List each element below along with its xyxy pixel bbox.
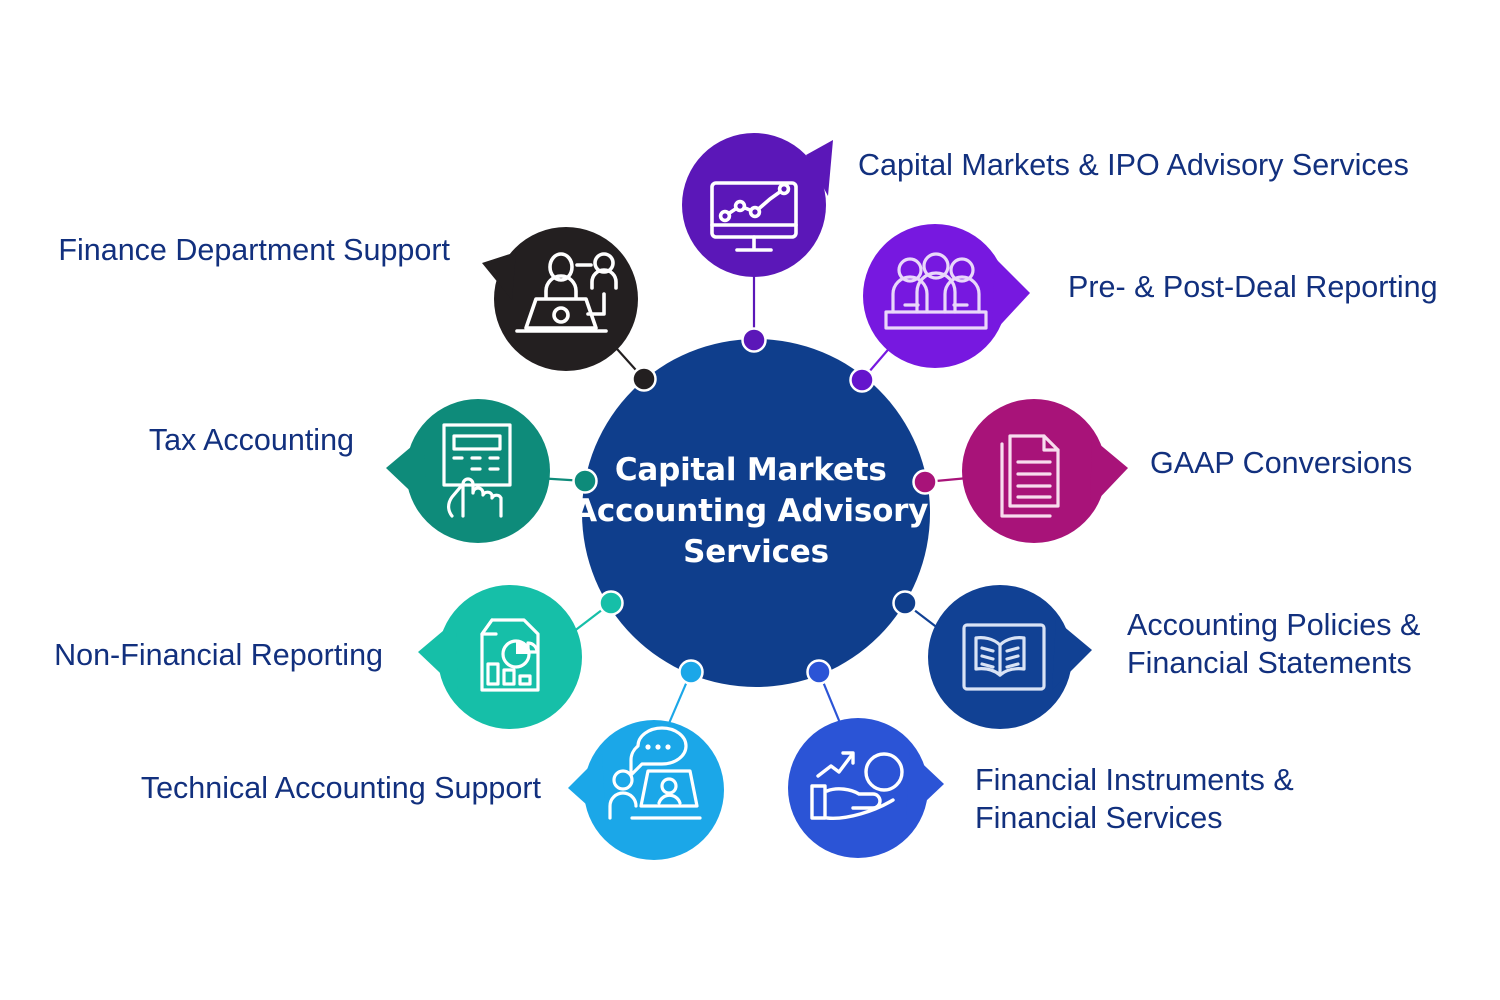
bubble-shape-pre-post-deal-reporting <box>863 224 1007 368</box>
node-capital-markets-ipo[interactable] <box>682 133 833 277</box>
connector-dot-pre-post-deal-reporting <box>851 369 874 392</box>
node-financial-instruments-financial-services[interactable] <box>788 718 944 858</box>
bubble-tail-technical-accounting-support <box>568 754 606 822</box>
bubble-tail-tax-accounting <box>386 436 426 506</box>
node-label-gaap-conversions: GAAP Conversions <box>1150 446 1412 480</box>
node-label-financial-instruments-financial-services: Financial Instruments & Financial Servic… <box>975 763 1302 835</box>
bubble-shape-non-financial-reporting <box>438 585 582 729</box>
connector-dot-non-financial-reporting <box>600 592 623 615</box>
node-label-tax-accounting: Tax Accounting <box>149 423 354 457</box>
diagram-canvas: Capital Markets & IPO Advisory Services … <box>0 0 1500 1000</box>
hub-and-spoke-diagram: Capital Markets & IPO Advisory Services … <box>0 0 1500 1000</box>
node-label-technical-accounting-support: Technical Accounting Support <box>141 771 542 805</box>
bubble-tail-gaap-conversions <box>1090 438 1128 508</box>
connector-dot-gaap-conversions <box>914 471 937 494</box>
hub-node[interactable]: Capital Markets Accounting Advisory Serv… <box>573 339 939 687</box>
bubble-shape-tax-accounting <box>406 399 550 543</box>
node-non-financial-reporting[interactable] <box>418 585 582 729</box>
connector-dot-technical-accounting-support <box>680 661 703 684</box>
bubble-tail-accounting-policies <box>1052 620 1092 690</box>
node-accounting-policies-financial-statements[interactable] <box>928 585 1092 729</box>
connector-dot-financial-instruments <box>808 661 831 684</box>
node-label-non-financial-reporting: Non-Financial Reporting <box>54 638 383 672</box>
bubble-shape-capital-markets-ipo <box>682 133 826 277</box>
connector-dot-finance-department-support <box>633 368 656 391</box>
connector-dot-capital-markets-ipo <box>743 329 766 352</box>
node-label-pre-post-deal-reporting: Pre- & Post-Deal Reporting <box>1068 270 1438 304</box>
bubble-tail-financial-instruments <box>906 752 944 820</box>
bubble-shape-financial-instruments <box>788 718 928 858</box>
connector-dot-accounting-policies <box>894 592 917 615</box>
node-label-accounting-policies-financial-statements: Accounting Policies & Financial Statemen… <box>1127 608 1429 680</box>
node-finance-department-support[interactable] <box>482 227 638 371</box>
node-pre-post-deal-reporting[interactable] <box>863 224 1030 368</box>
node-label-capital-markets-ipo: Capital Markets & IPO Advisory Services <box>858 148 1409 182</box>
node-label-finance-department-support: Finance Department Support <box>58 233 450 267</box>
node-gaap-conversions[interactable] <box>962 399 1128 543</box>
node-tax-accounting[interactable] <box>386 399 550 543</box>
node-technical-accounting-support[interactable] <box>568 720 724 860</box>
bubble-tail-non-financial-reporting <box>418 620 458 690</box>
connector-dot-tax-accounting <box>574 470 597 493</box>
bubble-tail-pre-post-deal-reporting <box>992 258 1030 334</box>
bubble-shape-gaap-conversions <box>962 399 1106 543</box>
bubble-shape-technical-accounting-support <box>584 720 724 860</box>
